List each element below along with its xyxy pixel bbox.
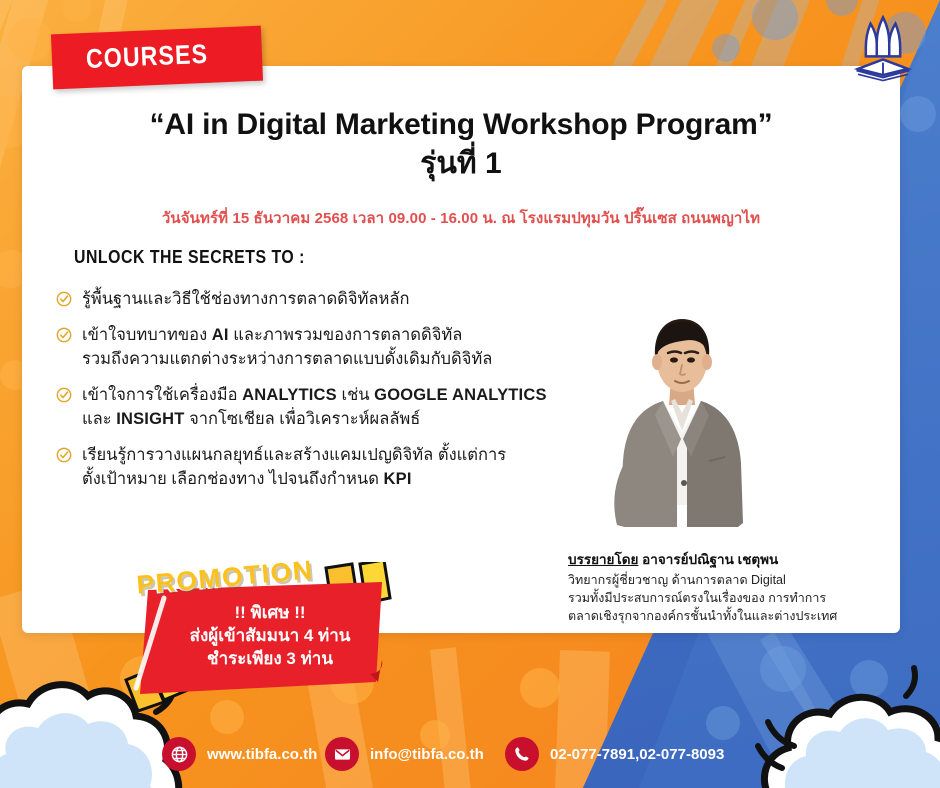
benefit-text-line: เข้าใจการใช้เครื่องมือ ANALYTICS เช่น GO… — [82, 384, 547, 407]
page-title: “AI in Digital Marketing Workshop Progra… — [22, 108, 900, 142]
speaker-photo — [585, 305, 775, 542]
benefits-list: รู้พื้นฐานและวิธีใช้ช่องทางการตลาดดิจิทั… — [56, 288, 576, 504]
benefit-item: เข้าใจบทบาทของ AI และภาพรวมของการตลาดดิจ… — [56, 324, 576, 371]
promotion-details: !! พิเศษ !! ส่งผู้เข้าสัมมนา 4 ท่าน ชำระ… — [152, 602, 388, 670]
check-circle-icon — [56, 387, 72, 403]
envelope-icon — [325, 737, 359, 771]
speaker-name-line: บรรยายโดย อาจารย์ปณิฐาน เชตุพน — [568, 548, 888, 570]
promotion-line-3: ชำระเพียง 3 ท่าน — [152, 648, 388, 671]
courses-badge-label: COURSES — [85, 39, 208, 75]
courses-badge: COURSES — [51, 26, 263, 90]
check-circle-icon — [56, 327, 72, 343]
benefit-text: รู้พื้นฐานและวิธีใช้ช่องทางการตลาดดิจิทั… — [82, 288, 410, 311]
benefit-text-line: รู้พื้นฐานและวิธีใช้ช่องทางการตลาดดิจิทั… — [82, 288, 410, 311]
website-text: www.tibfa.co.th — [207, 746, 317, 763]
phone-text: 02-077-7891,02-077-8093 — [550, 746, 724, 763]
speaker-bio-3: ตลาดเชิงรุกจากองค์กรชั้นนำทั้งในและต่างป… — [568, 608, 888, 626]
email-text: info@tibfa.co.th — [370, 746, 484, 763]
footer-contact-bar: www.tibfa.co.th info@tibfa.co.th 02-077-… — [0, 726, 940, 782]
benefit-text-line: ตั้งเป้าหมาย เลือกช่องทาง ไปจนถึงกำหนด K… — [82, 468, 506, 491]
poster-root: COURSES “AI in Digital Marketing Worksho… — [0, 0, 940, 788]
check-circle-icon — [56, 447, 72, 463]
promotion-block: PROMOTION !! พิเศษ !! ส่งผู้เข้าสัมมนา 4… — [120, 562, 420, 712]
tibfa-book-logo — [843, 8, 923, 86]
benefit-item: เรียนรู้การวางแผนกลยุทธ์และสร้างแคมเปญดิ… — [56, 444, 576, 491]
benefit-text-line: และ INSIGHT จากโซเชียล เพื่อวิเคราะห์ผลล… — [82, 408, 547, 431]
footer-phone[interactable]: 02-077-7891,02-077-8093 — [505, 737, 724, 771]
speaker-bio-2: รวมทั้งมีประสบการณ์ตรงในเรื่องของ การทำก… — [568, 590, 888, 608]
speaker-prefix: บรรยายโดย — [568, 552, 638, 567]
speaker-info: บรรยายโดย อาจารย์ปณิฐาน เชตุพน วิทยากรผู… — [568, 548, 888, 625]
page-subtitle: รุ่นที่ 1 — [22, 144, 900, 183]
benefit-text: เรียนรู้การวางแผนกลยุทธ์และสร้างแคมเปญดิ… — [82, 444, 506, 491]
benefit-item: รู้พื้นฐานและวิธีใช้ช่องทางการตลาดดิจิทั… — [56, 288, 576, 311]
speaker-bio-1: วิทยากรผู้ชี่ยวชาญ ด้านการตลาด Digital — [568, 572, 888, 590]
benefit-text-line: เรียนรู้การวางแผนกลยุทธ์และสร้างแคมเปญดิ… — [82, 444, 506, 467]
benefit-text: เข้าใจการใช้เครื่องมือ ANALYTICS เช่น GO… — [82, 384, 547, 431]
promotion-line-2: ส่งผู้เข้าสัมมนา 4 ท่าน — [152, 625, 388, 648]
title-block: “AI in Digital Marketing Workshop Progra… — [22, 108, 900, 183]
promotion-line-1: !! พิเศษ !! — [152, 602, 388, 625]
event-date-venue: วันจันทร์ที่ 15 ธันวาคม 2568 เวลา 09.00 … — [22, 206, 900, 230]
footer-email[interactable]: info@tibfa.co.th — [325, 737, 484, 771]
benefit-item: เข้าใจการใช้เครื่องมือ ANALYTICS เช่น GO… — [56, 384, 576, 431]
benefit-text-line: เข้าใจบทบาทของ AI และภาพรวมของการตลาดดิจ… — [82, 324, 492, 347]
phone-icon — [505, 737, 539, 771]
speaker-name: อาจารย์ปณิฐาน เชตุพน — [642, 552, 778, 567]
section-heading: UNLOCK THE SECRETS TO : — [74, 247, 305, 268]
benefit-text: เข้าใจบทบาทของ AI และภาพรวมของการตลาดดิจ… — [82, 324, 492, 371]
footer-website[interactable]: www.tibfa.co.th — [162, 737, 317, 771]
globe-icon — [162, 737, 196, 771]
check-circle-icon — [56, 291, 72, 307]
benefit-text-line: รวมถึงความแตกต่างระหว่างการตลาดแบบดั้งเด… — [82, 348, 492, 371]
